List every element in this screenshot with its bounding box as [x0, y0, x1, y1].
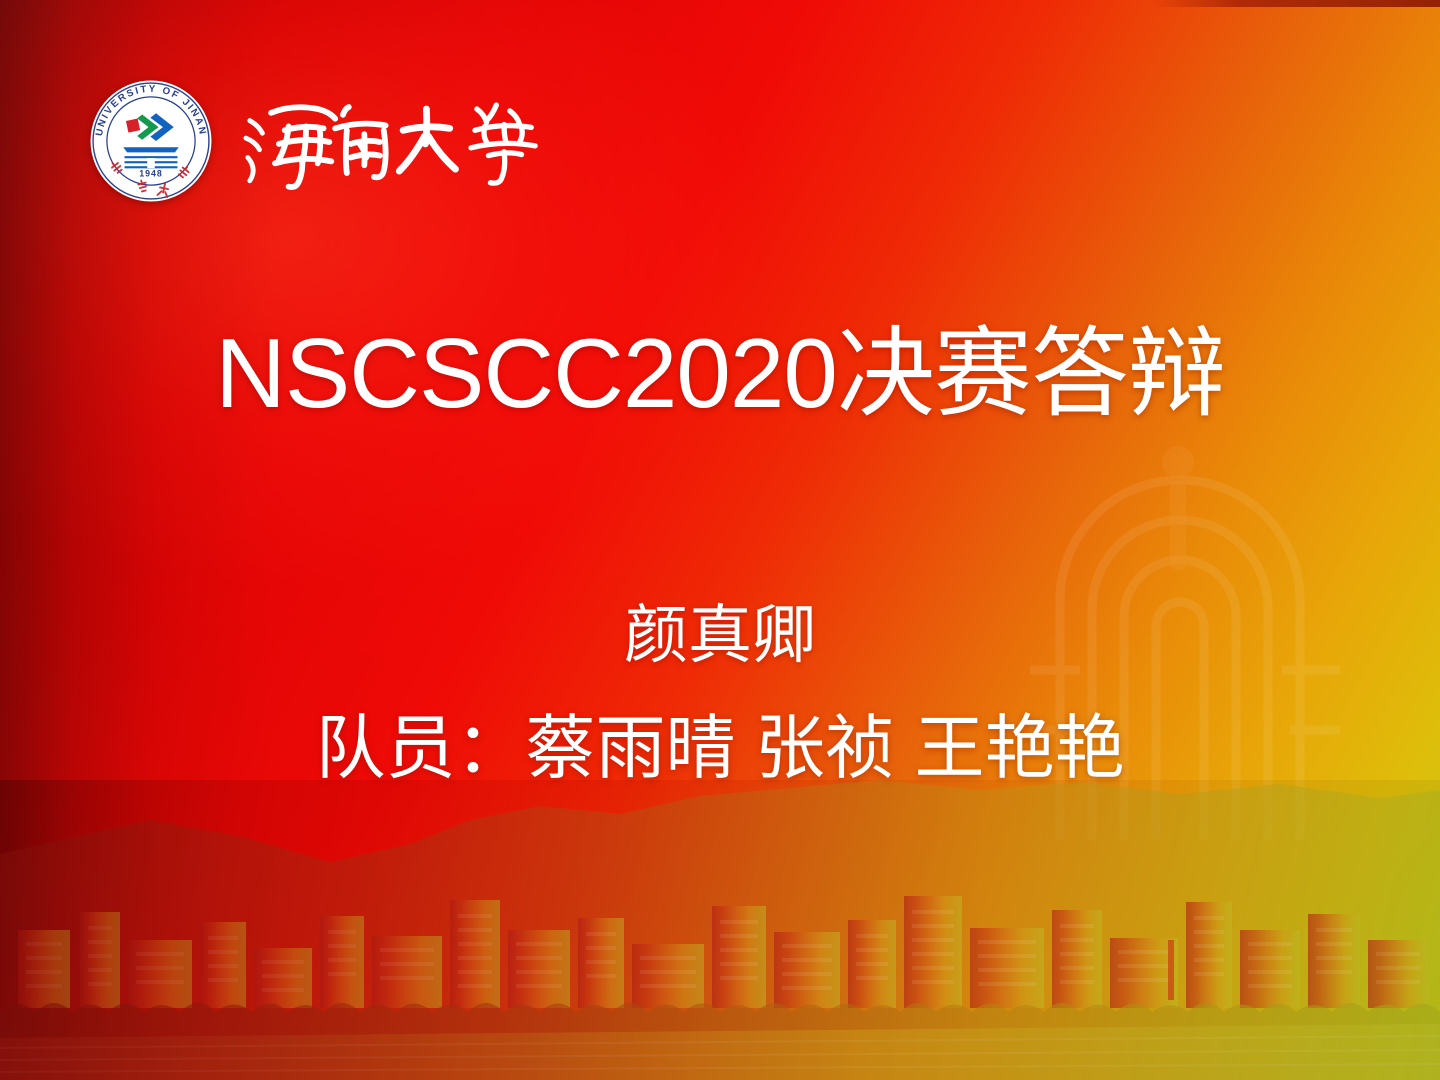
presentation-slide: UNIVERSITY OF JINAN 1948	[0, 0, 1440, 1080]
team-name: 颜真卿	[0, 600, 1440, 670]
slide-top-edge-band	[0, 0, 1440, 7]
seal-founded-year: 1948	[139, 168, 162, 178]
university-wordmark	[242, 87, 572, 195]
slide-title: NSCSCC2020决赛答辩	[0, 322, 1440, 426]
team-members-line: 队员：蔡雨晴 张祯 王艳艳	[0, 710, 1440, 787]
campus-panorama-watermark	[0, 780, 1440, 1080]
university-logo: UNIVERSITY OF JINAN 1948	[88, 78, 572, 204]
university-seal-icon: UNIVERSITY OF JINAN 1948	[88, 78, 214, 204]
